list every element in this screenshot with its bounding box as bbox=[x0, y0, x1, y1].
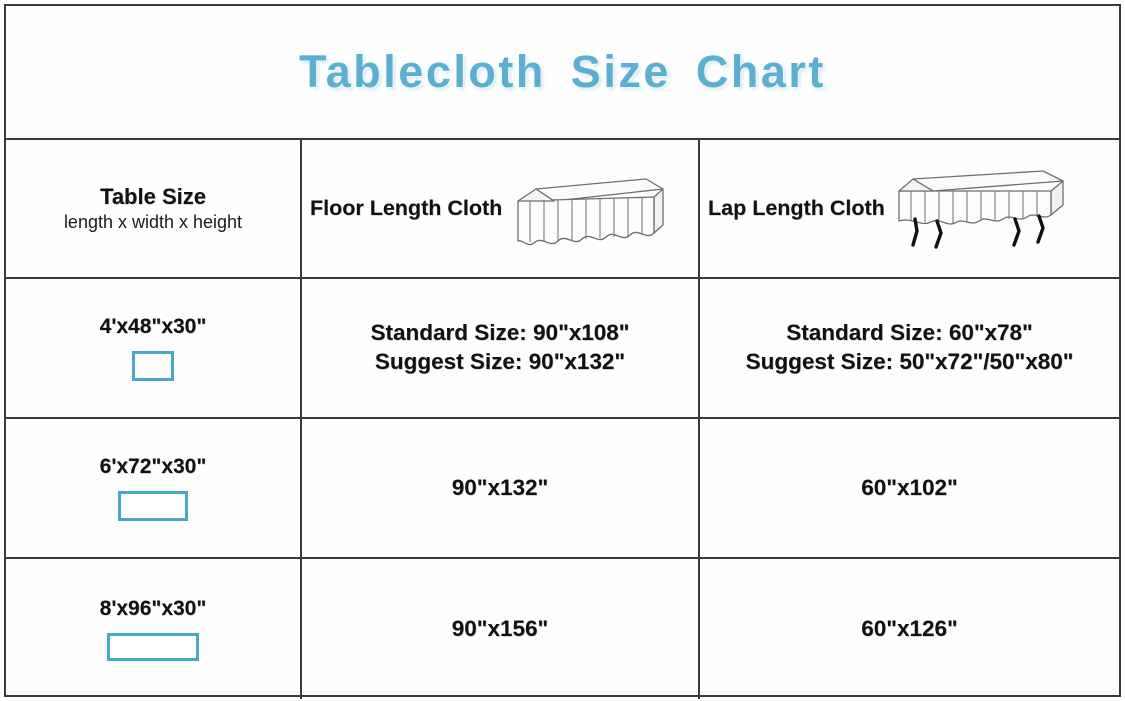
header-floor-length-label: Floor Length Cloth bbox=[310, 196, 502, 221]
floor-length-cell: Standard Size: 90"x108" Suggest Size: 90… bbox=[302, 279, 700, 417]
table-header-row: Table Size length x width x height Floor… bbox=[6, 140, 1119, 279]
floor-suggest-size: Suggest Size: 90"x132" bbox=[375, 348, 625, 377]
floor-size: 90"x132" bbox=[452, 474, 548, 503]
header-lap-length: Lap Length Cloth bbox=[700, 140, 1119, 277]
table-size-cell: 4'x48"x30" bbox=[6, 279, 302, 417]
floor-length-cell: 90"x132" bbox=[302, 419, 700, 557]
lap-length-cell: 60"x102" bbox=[700, 419, 1119, 557]
table-size-label: 6'x72"x30" bbox=[100, 455, 207, 479]
table-size-label: 8'x96"x30" bbox=[100, 597, 207, 621]
lap-length-cell: 60"x126" bbox=[700, 559, 1119, 699]
lap-length-table-with-legs-icon bbox=[891, 165, 1071, 253]
table-shape-rectangle bbox=[107, 633, 199, 661]
table-size-label: 4'x48"x30" bbox=[100, 315, 207, 339]
tablecloth-size-chart: Tablecloth Size Chart Table Size length … bbox=[4, 4, 1121, 697]
header-table-size-sub: length x width x height bbox=[64, 212, 242, 233]
lap-size: 60"x102" bbox=[861, 474, 957, 503]
table-shape-rectangle bbox=[118, 491, 188, 521]
table-row: 6'x72"x30" 90"x132" 60"x102" bbox=[6, 419, 1119, 559]
lap-length-cell: Standard Size: 60"x78" Suggest Size: 50"… bbox=[700, 279, 1119, 417]
lap-size: 60"x126" bbox=[861, 615, 957, 644]
table-shape-rectangle bbox=[132, 351, 174, 381]
lap-suggest-size: Suggest Size: 50"x72"/50"x80" bbox=[746, 348, 1074, 377]
table-row: 4'x48"x30" Standard Size: 90"x108" Sugge… bbox=[6, 279, 1119, 419]
floor-standard-size: Standard Size: 90"x108" bbox=[371, 319, 630, 348]
header-lap-length-label: Lap Length Cloth bbox=[708, 196, 885, 221]
page-title: Tablecloth Size Chart bbox=[299, 46, 826, 98]
floor-length-cell: 90"x156" bbox=[302, 559, 700, 699]
table-row: 8'x96"x30" 90"x156" 60"x126" bbox=[6, 559, 1119, 699]
header-table-size: Table Size length x width x height bbox=[6, 140, 302, 277]
header-table-size-main: Table Size bbox=[100, 184, 206, 210]
table-size-cell: 8'x96"x30" bbox=[6, 559, 302, 699]
title-row: Tablecloth Size Chart bbox=[6, 6, 1119, 140]
table-size-cell: 6'x72"x30" bbox=[6, 419, 302, 557]
floor-size: 90"x156" bbox=[452, 615, 548, 644]
header-floor-length: Floor Length Cloth bbox=[302, 140, 700, 277]
lap-standard-size: Standard Size: 60"x78" bbox=[786, 319, 1032, 348]
floor-length-draped-table-icon bbox=[508, 169, 666, 249]
